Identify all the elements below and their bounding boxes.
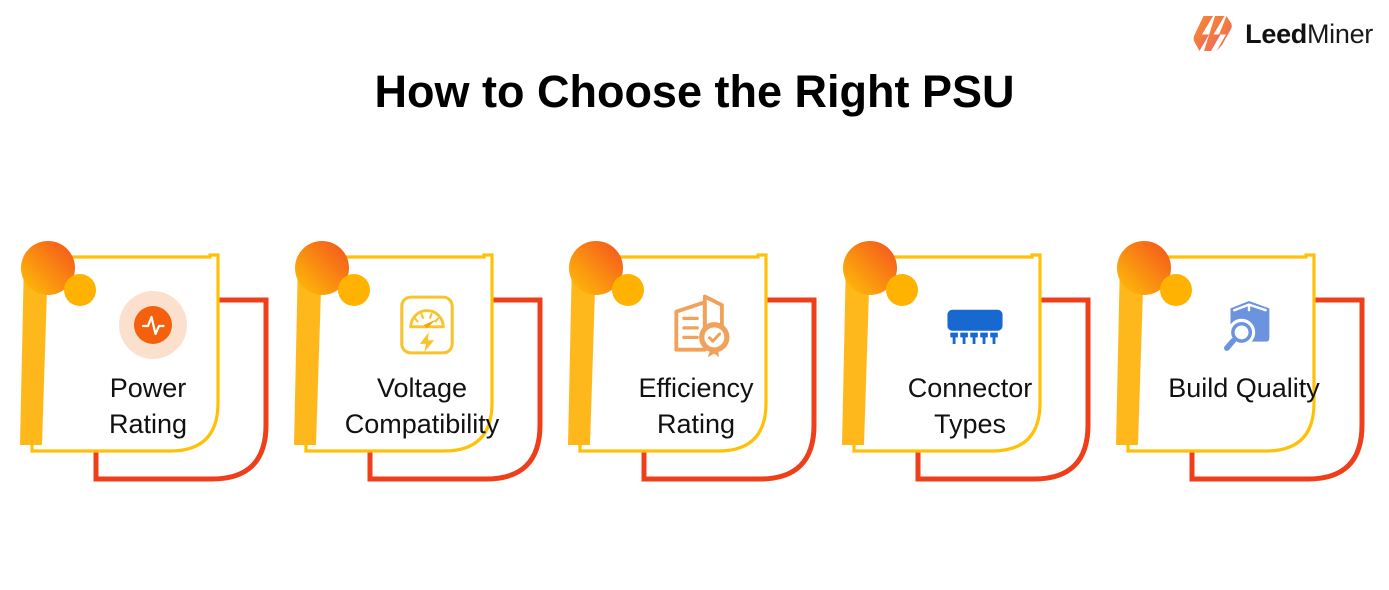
- card-voltage-compatibility[interactable]: Voltage Compatibility: [288, 245, 556, 485]
- certified-building-badge-icon: [661, 285, 741, 365]
- cards-row: Power Rating: [0, 245, 1389, 485]
- card-content: Connector Types: [870, 263, 1080, 467]
- brand-logo: LeedMiner: [1193, 13, 1373, 55]
- card-power-rating[interactable]: Power Rating: [14, 245, 282, 485]
- gauge-lightning-icon: [387, 285, 467, 365]
- brand-name-bold: Leed: [1245, 19, 1307, 49]
- card-label: Voltage Compatibility: [307, 371, 537, 442]
- card-content: Build Quality: [1144, 263, 1354, 467]
- card-build-quality[interactable]: Build Quality: [1110, 245, 1378, 485]
- card-content: Efficiency Rating: [596, 263, 806, 467]
- card-content: Voltage Compatibility: [322, 263, 532, 467]
- brand-name-light: Miner: [1307, 19, 1373, 49]
- leedminer-hexagon-logo-icon: [1193, 13, 1237, 55]
- card-connector-types[interactable]: Connector Types: [836, 245, 1104, 485]
- card-label: Power Rating: [33, 371, 263, 442]
- pulse-monitor-icon: [113, 285, 193, 365]
- card-label: Build Quality: [1129, 371, 1359, 407]
- card-efficiency-rating[interactable]: Efficiency Rating: [562, 245, 830, 485]
- card-label: Efficiency Rating: [581, 371, 811, 442]
- card-content: Power Rating: [48, 263, 258, 467]
- card-label: Connector Types: [855, 371, 1085, 442]
- box-magnifier-icon: [1209, 285, 1289, 365]
- ic-chip-icon: [935, 285, 1015, 365]
- brand-name: LeedMiner: [1245, 19, 1373, 50]
- page-title: How to Choose the Right PSU: [0, 66, 1389, 118]
